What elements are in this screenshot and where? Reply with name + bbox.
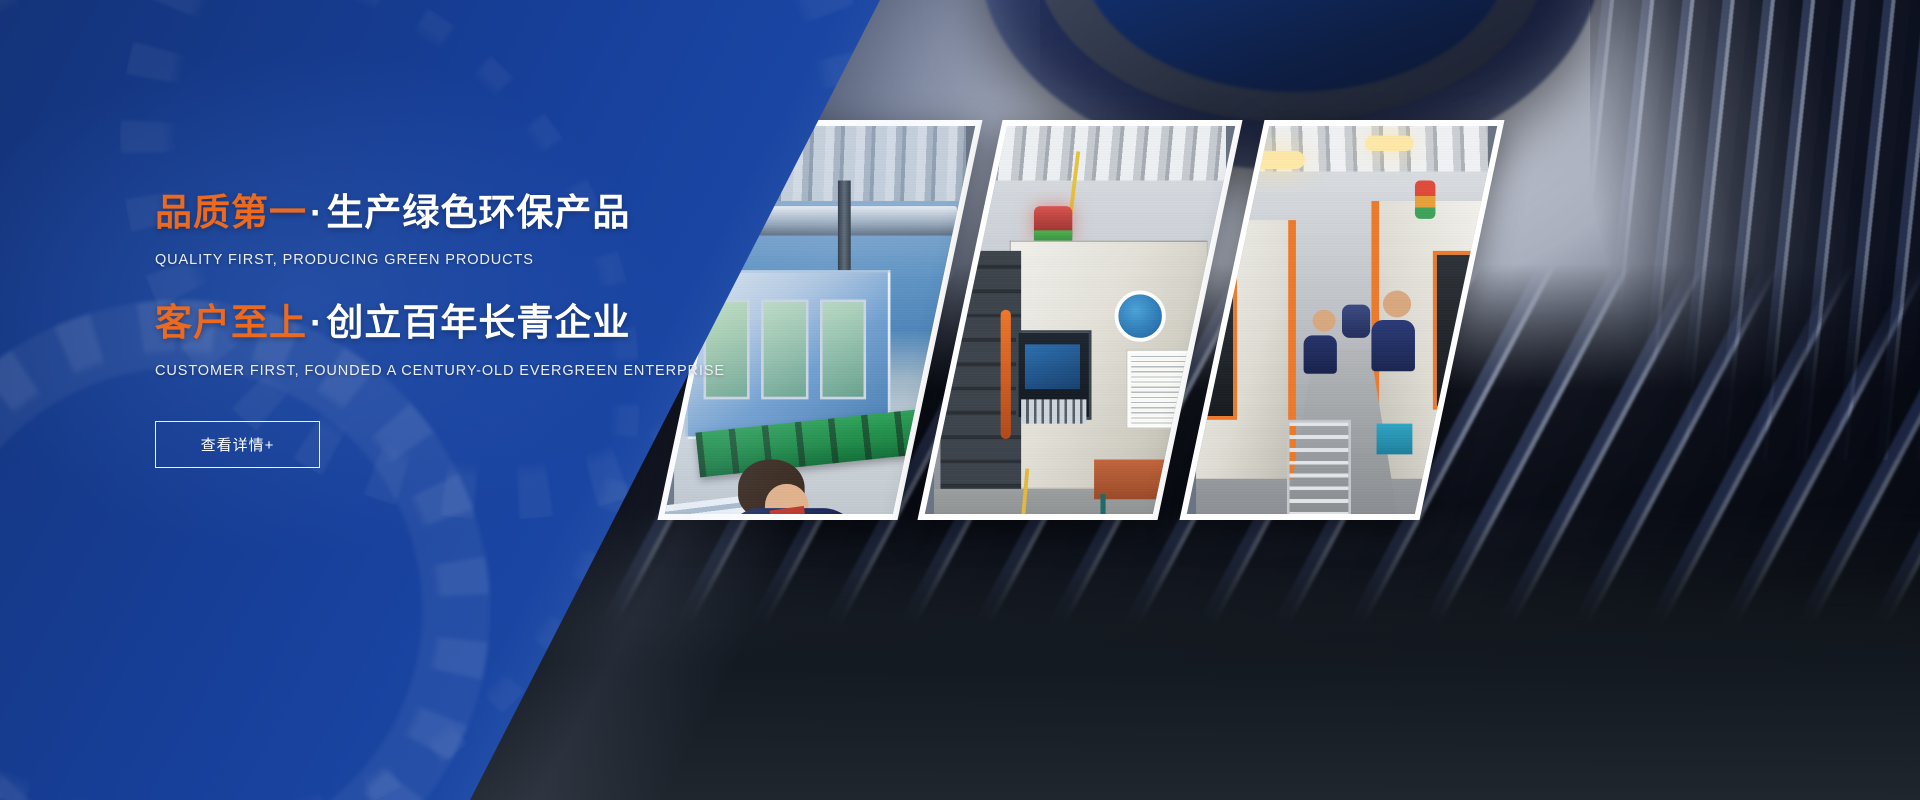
headline-secondary-highlight: 客户至上 bbox=[155, 302, 307, 343]
headline-secondary: 客户至上·创立百年长青企业 bbox=[155, 300, 795, 346]
photo-card-2-image bbox=[934, 120, 1226, 520]
headline-primary: 品质第一·生产绿色环保产品 bbox=[155, 190, 795, 236]
headline-secondary-separator: · bbox=[307, 302, 326, 343]
view-details-button[interactable]: 查看详情+ bbox=[155, 421, 320, 468]
hero-banner: 品质第一·生产绿色环保产品 QUALITY FIRST, PRODUCING G… bbox=[0, 0, 1920, 800]
headline-primary-highlight: 品质第一 bbox=[155, 192, 307, 233]
subtitle-primary: QUALITY FIRST, PRODUCING GREEN PRODUCTS bbox=[155, 252, 795, 268]
hero-content: 品质第一·生产绿色环保产品 QUALITY FIRST, PRODUCING G… bbox=[155, 190, 795, 468]
subtitle-secondary: CUSTOMER FIRST, FOUNDED A CENTURY-OLD EV… bbox=[155, 363, 795, 379]
headline-primary-separator: · bbox=[307, 192, 326, 233]
headline-secondary-rest: 创立百年长青企业 bbox=[326, 302, 630, 343]
photo-card-3-image bbox=[1196, 120, 1488, 520]
headline-primary-rest: 生产绿色环保产品 bbox=[326, 192, 630, 233]
